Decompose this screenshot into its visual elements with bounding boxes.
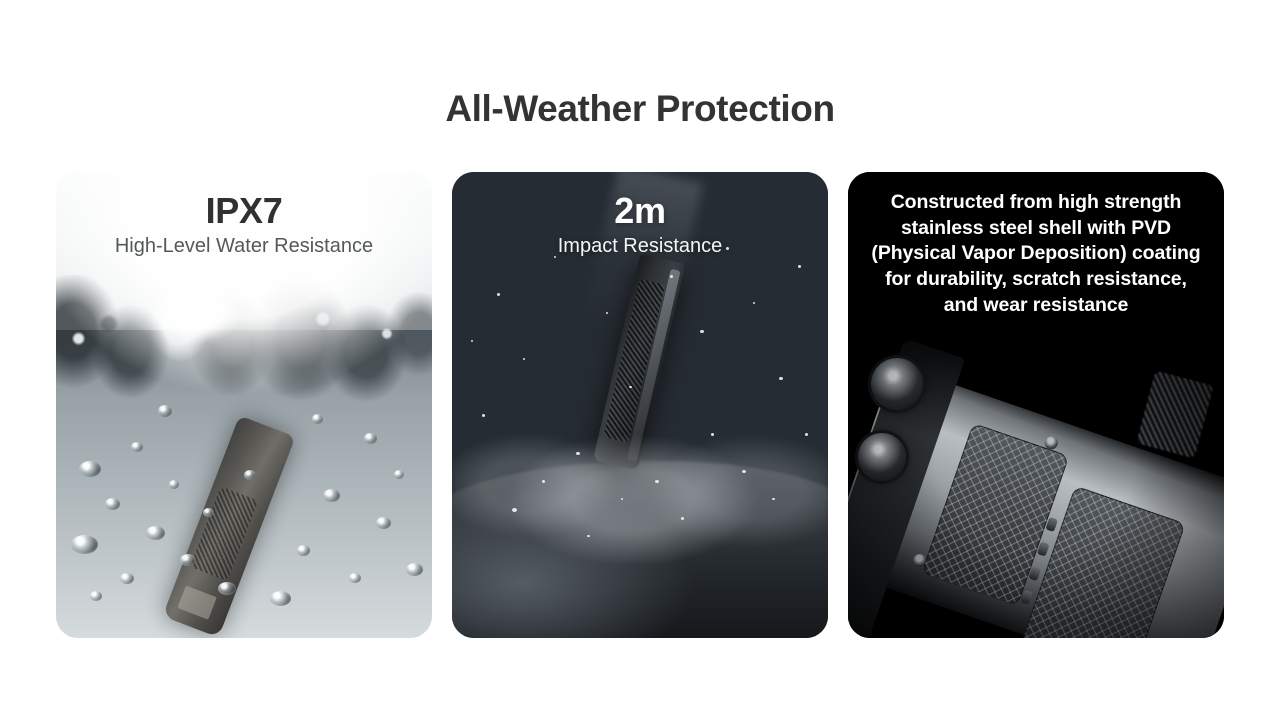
card-headline: 2m <box>452 192 828 231</box>
water-splash-droplets <box>56 302 432 423</box>
secondary-lens <box>858 433 906 481</box>
feature-card-material-construction[interactable]: Constructed from high strength stainless… <box>848 172 1224 638</box>
all-weather-protection-page: All-Weather Protection <box>0 0 1280 720</box>
page-title: All-Weather Protection <box>0 88 1280 130</box>
feature-card-impact-resistance[interactable]: 2m Impact Resistance <box>452 172 828 638</box>
card-subtext: High-Level Water Resistance <box>56 234 432 258</box>
card-headline: IPX7 <box>56 192 432 231</box>
battery-indicator-2 <box>1038 542 1051 557</box>
card-subtext: Impact Resistance <box>452 234 828 258</box>
impact-dust-cloud <box>452 414 828 563</box>
feature-card-group: IPX7 High-Level Water Resistance <box>56 172 1224 638</box>
battery-indicator-3 <box>1029 566 1042 581</box>
battery-indicator-4 <box>1021 591 1034 606</box>
battery-indicator-1 <box>1046 518 1059 533</box>
card-paragraph: Constructed from high strength stainless… <box>870 190 1202 319</box>
feature-card-water-resistance[interactable]: IPX7 High-Level Water Resistance <box>56 172 432 638</box>
